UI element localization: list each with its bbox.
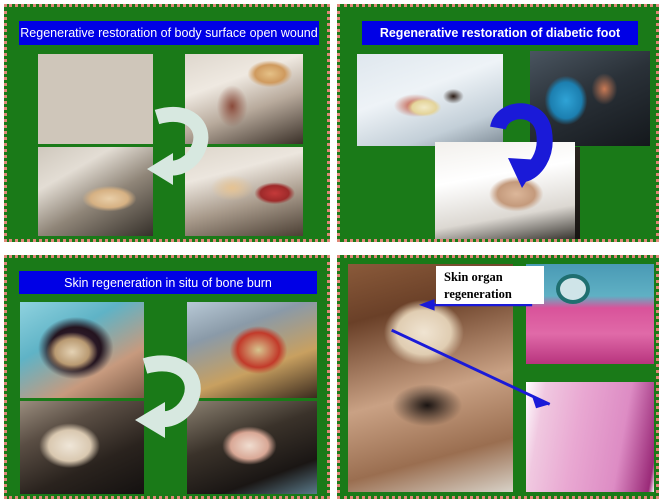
callout-line-1: Skin organ [444,269,544,286]
photo-diabetic-foot-treatment [530,51,650,146]
panel-title-open-wound: Regenerative restoration of body surface… [19,21,319,45]
photo-histology-upper-section [526,264,654,364]
photo-open-wound-before-upper-right [185,54,303,144]
photo-bone-burn-scalp-granulating [20,401,144,494]
panel-bone-burn: Skin regeneration in situ of bone burn [4,255,330,499]
photo-open-wound-after-lower-left [38,147,153,236]
slide-grid: Regenerative restoration of body surface… [0,0,663,503]
panel-skin-organ-regeneration: Skin organ regeneration [337,255,659,499]
callout-skin-organ-regeneration: Skin organ regeneration [436,266,544,304]
panel-diabetic-foot: Regenerative restoration of diabetic foo… [337,4,659,242]
panel-title-diabetic-foot: Regenerative restoration of diabetic foo… [362,21,638,45]
panel-title-bone-burn: Skin regeneration in situ of bone burn [19,271,317,294]
photo-diabetic-foot-healed [435,142,575,242]
hair-follicle-icon [556,274,590,304]
photo-histology-lower-section [526,382,654,492]
photo-open-wound-before-upper-left [38,54,153,144]
photo-diabetic-foot-ulcer-before [357,54,503,146]
photo-open-wound-after-lower-right [185,147,303,236]
photo-bone-burn-scalp-debrided [187,302,317,398]
photo-bone-burn-scalp-necrotic [20,302,144,398]
panel-open-wound: Regenerative restoration of body surface… [4,4,330,242]
callout-line-2: regeneration [444,286,544,303]
photo-bone-burn-scalp-regenerating [187,401,317,494]
